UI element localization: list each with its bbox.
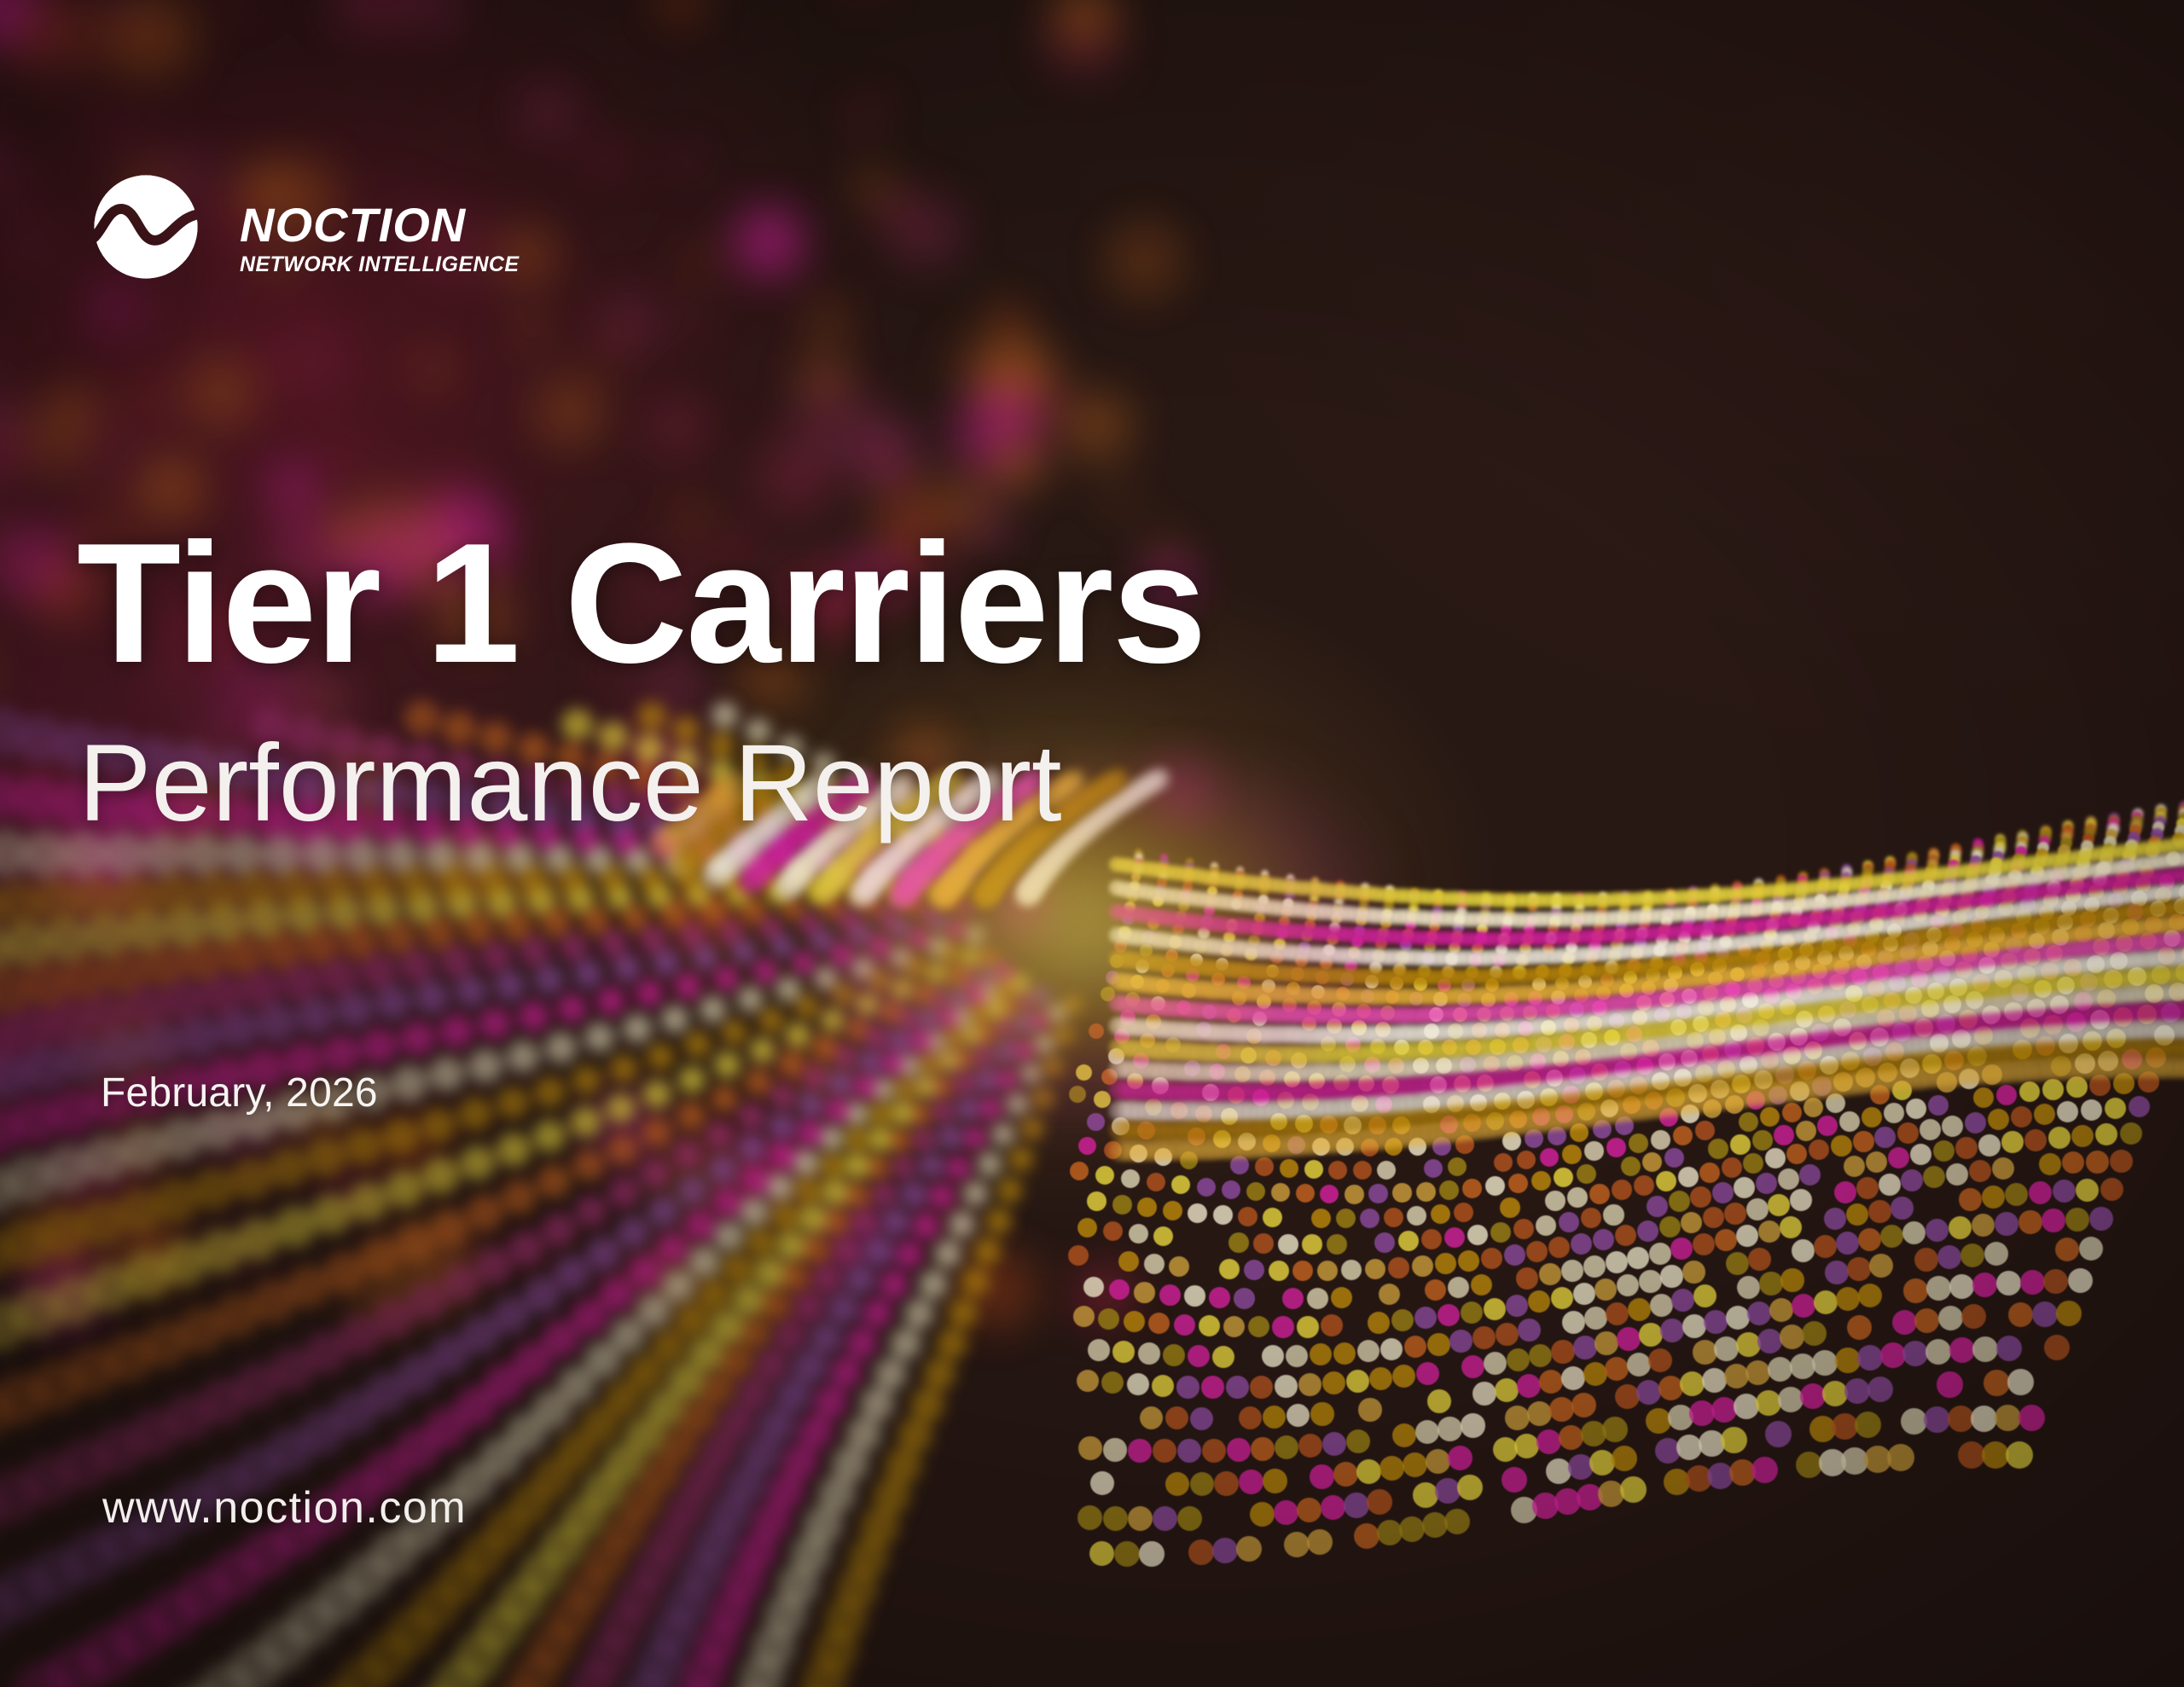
brand-name: NOCTION — [240, 201, 519, 249]
brand-wordmark: NOCTION NETWORK INTELLIGENCE — [240, 179, 519, 275]
report-cover-slide: NOCTION NETWORK INTELLIGENCE Tier 1 Carr… — [0, 0, 2184, 1687]
noction-wave-circle-logo-icon — [90, 171, 202, 283]
page-title: Tier 1 Carriers — [77, 519, 1205, 689]
publication-date: February, 2026 — [101, 1073, 378, 1114]
brand-logo-lockup[interactable]: NOCTION NETWORK INTELLIGENCE — [90, 171, 519, 283]
cover-content: NOCTION NETWORK INTELLIGENCE Tier 1 Carr… — [0, 0, 2184, 1687]
brand-tagline: NETWORK INTELLIGENCE — [240, 254, 519, 275]
page-subtitle: Performance Report — [78, 729, 1062, 838]
website-url[interactable]: www.noction.com — [102, 1486, 467, 1530]
